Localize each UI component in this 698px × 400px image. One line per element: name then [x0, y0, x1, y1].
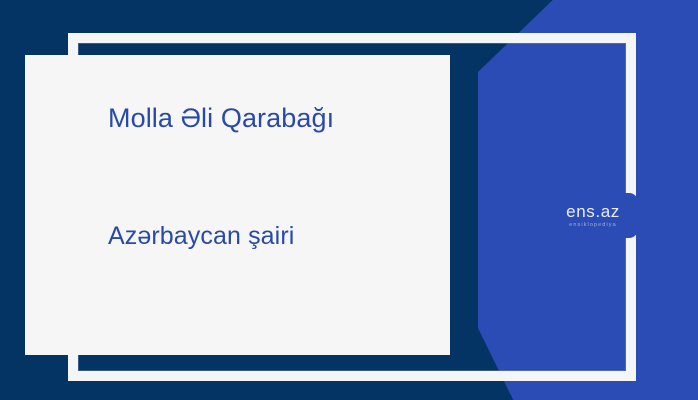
ens-az-logo-badge[interactable]: ens.az ensiklopediya — [548, 193, 638, 238]
content-card: Molla Əli Qarabağı Azərbaycan şairi — [25, 55, 450, 355]
logo-wordmark: ens.az — [566, 203, 620, 220]
card-canvas: Molla Əli Qarabağı Azərbaycan şairi ens.… — [0, 0, 698, 400]
logo-tagline: ensiklopediya — [569, 223, 617, 229]
page-subtitle: Azərbaycan şairi — [108, 222, 432, 251]
page-title: Molla Əli Qarabağı — [108, 103, 432, 134]
card-text-block: Molla Əli Qarabağı Azərbaycan şairi — [108, 103, 432, 251]
